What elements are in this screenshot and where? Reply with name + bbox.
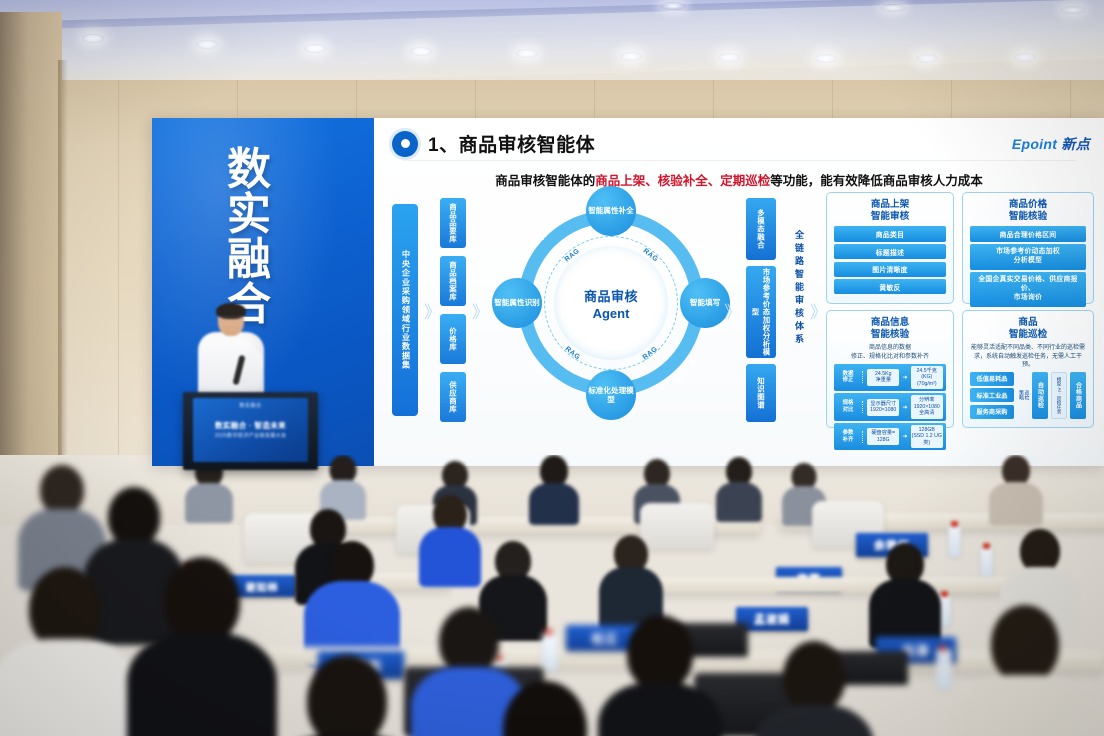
transform-row: 规格 对比 显示器尺寸 1920×1080 ➜ 分辨率 1920×1080 全高… <box>834 393 946 421</box>
transform-from: 硬盘容量= 128G <box>867 428 899 445</box>
bullet-dot-icon <box>392 131 418 157</box>
card-title: 商品上架 智能审核 <box>831 199 949 222</box>
audience-person <box>870 543 940 643</box>
podium-logo-text: 数实融合 <box>183 402 318 409</box>
card-title-line2: 智能审核 <box>871 211 909 222</box>
patrol-category: 低值易耗品 <box>970 372 1014 386</box>
water-bottle <box>948 525 961 557</box>
transform-to: 分辨率 1920×1080 全高清 <box>911 395 943 419</box>
model-box: 市场参考价态加权分析模型 <box>746 266 776 358</box>
slide-subtitle: 商品审核智能体的商品上架、核验补全、定期巡检等功能，能有效降低商品审核人力成本 <box>374 170 1104 189</box>
card-title: 商品价格 智能核验 <box>967 199 1089 222</box>
card-description: 能够灵活适配不同品类、不同行业的巡检需求，系统自动触发巡检任务，无需人工干预。 <box>971 344 1085 368</box>
water-bottle <box>980 547 993 579</box>
person-body <box>185 483 233 523</box>
person-body <box>989 482 1043 526</box>
person-head <box>164 557 240 645</box>
podium: 数实融合 数实融合 · 智造未来 2025数字经济产业链发展大会 <box>183 392 318 470</box>
downlight-icon <box>1060 6 1086 14</box>
speaker-glasses-icon <box>219 316 243 322</box>
data-source-bar: 中央企业采购领域行业数据集 <box>392 204 418 416</box>
card-description: 商品信息的数据 修正、规格化比对和参数补齐 <box>835 344 945 360</box>
card-patrol-inspection: 商品 智能巡检 能够灵活适配不同品类、不同行业的巡检需求，系统自动触发巡检任务，… <box>962 310 1094 428</box>
agent-node-left: 智能属性识别 <box>492 278 542 328</box>
card-item: 全国企真实交易价格、供应商报价、 市场询价 <box>970 272 1086 306</box>
card-title-line2: 智能巡检 <box>1009 329 1047 340</box>
backdrop-char: 实 <box>210 193 288 238</box>
transform-from: 显示器尺寸 1920×1080 <box>867 399 899 416</box>
downlight-icon <box>516 49 538 58</box>
card-item: 标题描述 <box>834 244 946 259</box>
card-title-line1: 商品信息 <box>871 317 909 328</box>
slide-title: 1、商品审核智能体 <box>428 130 595 157</box>
card-title-line2: 智能核验 <box>871 329 909 340</box>
audience-person <box>132 557 272 736</box>
audience-person <box>272 655 422 736</box>
backdrop-vertical-text: 数 实 融 合 <box>210 148 288 328</box>
backdrop-char: 数 <box>210 148 288 193</box>
transform-to: 24.5千克(KG) (70g/m²) <box>911 366 943 390</box>
left-wall <box>0 12 62 512</box>
audience-person <box>306 541 398 661</box>
downlight-icon <box>196 40 218 49</box>
model-box-column: 多模态融合 市场参考价态加权分析模型 知识图谱 <box>746 198 776 422</box>
patrol-note: 模型 AI · 巡检任务 <box>1051 372 1067 419</box>
card-item: 市场参考价动态加权 分析模型 <box>970 244 1086 270</box>
system-name-label: 全链路智能审核体系 <box>790 230 806 347</box>
header-divider <box>402 160 1076 161</box>
transform-tag: 规格 对比 <box>837 400 859 414</box>
person-head <box>307 655 387 736</box>
person-head <box>991 605 1059 683</box>
slide-header: 1、商品审核智能体 <box>392 130 595 157</box>
card-title-line1: 商品上架 <box>871 199 909 210</box>
podium-event-name: 2025数字经济产业链发展大会 <box>183 432 318 439</box>
agent-node-right: 智能填写 <box>680 278 730 328</box>
subtitle-highlight: 商品上架、核验补全、定期巡检 <box>595 174 770 188</box>
water-bottle <box>936 649 952 689</box>
speaker-person <box>196 305 266 405</box>
person-body <box>955 675 1095 736</box>
row-divider <box>862 431 864 443</box>
audience-person <box>600 535 662 627</box>
result-cards: 商品上架 智能审核 商品类目 标题描述 图片清晰度 黄敏反 商品价格 智能核验 <box>826 192 1094 428</box>
architecture-diagram: 中央企业采购领域行业数据集 》 商品品要库 商品档案库 价格库 供应商库 》 商… <box>374 194 1104 444</box>
transform-tag: 数据 修正 <box>837 371 859 385</box>
slide-content: 1、商品审核智能体 Epoint 新点 商品审核智能体的商品上架、核验补全、定期… <box>374 118 1104 466</box>
card-product-listing: 商品上架 智能审核 商品类目 标题描述 图片清晰度 黄敏反 <box>826 192 954 304</box>
person-body <box>127 633 277 736</box>
card-item: 商品合理价格区间 <box>970 226 1086 241</box>
audience-person <box>960 605 1090 736</box>
subtitle-prefix: 商品审核智能体的 <box>495 174 595 188</box>
data-box: 供应商库 <box>440 372 466 422</box>
person-body <box>419 527 481 587</box>
subtitle-suffix: 等功能，能有效降低商品审核人力成本 <box>770 174 983 188</box>
patrol-strategy-label: 巡检 策略 <box>1017 372 1029 419</box>
audience-person <box>756 641 872 736</box>
arrow-right-icon: ➜ <box>902 374 907 381</box>
transform-tag: 参数 补齐 <box>837 430 859 444</box>
person-body <box>529 483 579 525</box>
card-title: 商品 智能巡检 <box>967 317 1089 340</box>
audience-person <box>990 455 1042 521</box>
downlight-icon <box>304 44 326 53</box>
patrol-result: 合格商品 <box>1070 372 1086 419</box>
wall-corner-shadow <box>58 60 68 510</box>
agent-core-line2: Agent <box>593 306 630 321</box>
agent-ring-diagram: 商品审核 Agent 智能属性补全 智能填写 标准化处理模型 智能属性识别 RA… <box>492 190 730 436</box>
patrol-flow: 低值易耗品 标准工业品 服务商采购 巡检 策略 自动巡检 模型 AI · 巡检任… <box>970 372 1086 419</box>
agent-core: 商品审核 Agent <box>554 246 668 360</box>
person-head <box>40 465 84 515</box>
person-head <box>108 487 160 547</box>
agent-node-top: 智能属性补全 <box>586 186 636 236</box>
flow-chevron-icon: 》 <box>472 298 489 323</box>
logo-main-text: Epoint <box>1012 136 1057 152</box>
epoint-logo: Epoint 新点 <box>1012 134 1090 154</box>
water-bottle <box>542 633 558 671</box>
audience-person <box>420 495 480 581</box>
agent-core-line1: 商品审核 <box>584 286 638 305</box>
patrol-category: 服务商采购 <box>970 405 1014 419</box>
downlight-icon <box>620 52 642 61</box>
card-price-verification: 商品价格 智能核验 商品合理价格区间 市场参考价动态加权 分析模型 全国企真实交… <box>962 192 1094 304</box>
data-box-column: 商品品要库 商品档案库 价格库 供应商库 <box>440 198 466 422</box>
flow-chevron-icon: 》 <box>724 298 741 323</box>
flow-chevron-icon: 》 <box>424 298 441 323</box>
card-info-verification: 商品信息 智能核验 商品信息的数据 修正、规格化比对和参数补齐 数据 修正 24… <box>826 310 954 428</box>
transform-to: 128GB (SSD 1.2 UG类) <box>911 425 943 449</box>
card-item: 商品类目 <box>834 226 946 241</box>
row-divider <box>862 371 864 383</box>
transform-row: 数据 修正 24.5Kg 净重量 ➜ 24.5千克(KG) (70g/m²) <box>834 364 946 392</box>
arrow-right-icon: ➜ <box>902 404 907 411</box>
downlight-icon <box>410 47 432 56</box>
downlight-icon <box>880 4 906 12</box>
person-head <box>783 641 845 713</box>
audience-person <box>470 681 620 736</box>
audience-area: 余艳红 李嘉 谢如林 孟淑娟 <box>0 455 1104 736</box>
card-title-line1: 商品价格 <box>1009 199 1047 210</box>
model-box: 知识图谱 <box>746 364 776 422</box>
transform-row: 参数 补齐 硬盘容量= 128G ➜ 128GB (SSD 1.2 UG类) <box>834 423 946 451</box>
downlight-icon <box>916 54 938 63</box>
logo-sub-text: 新点 <box>1061 136 1090 152</box>
agent-node-bottom: 标准化处理模型 <box>586 370 636 420</box>
person-head <box>503 681 587 736</box>
row-divider <box>862 401 864 413</box>
podium-tagline: 数实融合 · 智造未来 <box>183 420 318 431</box>
person-body <box>0 639 137 736</box>
person-body <box>716 482 762 522</box>
audience-person <box>320 455 366 515</box>
model-box: 多模态融合 <box>746 198 776 260</box>
data-box: 价格库 <box>440 314 466 364</box>
backdrop-char: 融 <box>210 238 288 283</box>
arrow-right-icon: ➜ <box>902 433 907 440</box>
person-head <box>439 607 499 675</box>
nameplate-text: 孟淑娟 <box>754 611 790 627</box>
data-box: 商品品要库 <box>440 198 466 248</box>
audience-person <box>530 455 578 519</box>
card-title: 商品信息 智能核验 <box>831 317 949 340</box>
downlight-icon <box>660 2 686 10</box>
downlight-icon <box>815 54 837 63</box>
conference-photo: 数 实 融 合 1、商品审核智能体 Epoint 新点 商品审核智能体的商品上架… <box>0 0 1104 736</box>
flow-chevron-icon: 》 <box>810 298 827 323</box>
patrol-categories: 低值易耗品 标准工业品 服务商采购 <box>970 372 1014 419</box>
patrol-action: 自动巡检 <box>1032 372 1048 419</box>
audience-person <box>716 457 762 517</box>
card-title-line1: 商品 <box>1018 317 1037 328</box>
data-box: 商品档案库 <box>440 256 466 306</box>
downlight-icon <box>1014 53 1036 62</box>
downlight-icon <box>718 53 740 62</box>
transform-from: 24.5Kg 净重量 <box>867 369 899 386</box>
card-item: 黄敏反 <box>834 279 946 294</box>
person-body <box>754 705 874 736</box>
audience-person <box>0 567 130 736</box>
desk-row <box>640 577 1060 593</box>
card-title-line2: 智能核验 <box>1009 211 1047 222</box>
patrol-category: 标准工业品 <box>970 388 1014 402</box>
downlight-icon <box>82 34 104 43</box>
card-item: 图片清晰度 <box>834 262 946 277</box>
person-head <box>627 615 693 691</box>
